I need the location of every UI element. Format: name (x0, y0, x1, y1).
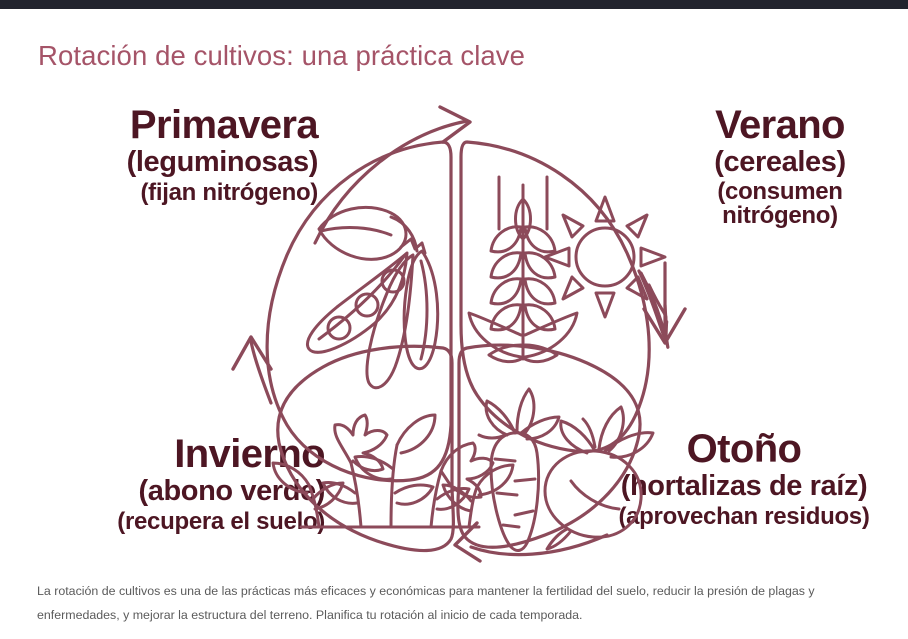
arrow-left (233, 337, 271, 403)
crop-rotation-cycle-diagram (215, 95, 695, 575)
footer-caption: La rotación de cultivos es una de las pr… (37, 579, 873, 627)
quadrant-label-verano: Verano (cereales) (consumen nitrógeno) (658, 104, 908, 228)
page-title: Rotación de cultivos: una práctica clave (38, 40, 525, 72)
pea-pod-icon (307, 207, 437, 387)
arrow-top (315, 107, 470, 243)
top-accent-bar (0, 0, 908, 9)
petal-invierno (278, 346, 454, 550)
cover-crop-icon (273, 415, 513, 527)
wheat-stalk-icon (469, 177, 577, 362)
